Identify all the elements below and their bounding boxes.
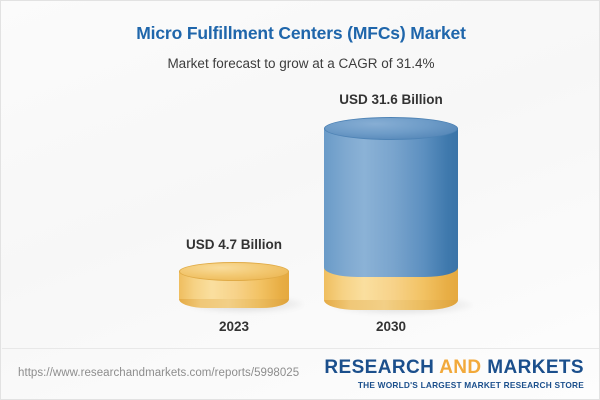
- footer: https://www.researchandmarkets.com/repor…: [1, 349, 600, 399]
- bar-value-label-2023: USD 4.7 Billion: [154, 237, 314, 252]
- bar-value-label-2030: USD 31.6 Billion: [311, 92, 471, 107]
- logo-word-research: RESEARCH: [324, 357, 434, 378]
- logo-word-and: AND: [439, 357, 481, 378]
- bar-group-2030: USD 31.6 Billion 2030: [311, 92, 471, 337]
- bar-cylinder-body-2030: [324, 128, 458, 267]
- bar-cylinder-2023: [179, 262, 289, 310]
- logo-wordmark: RESEARCH AND MARKETS: [324, 357, 584, 379]
- bar-category-label-2030: 2030: [311, 319, 471, 334]
- bar-cylinder-top-2030: [324, 117, 458, 140]
- bar-group-2023: USD 4.7 Billion 2023: [154, 237, 314, 337]
- report-url-link[interactable]: https://www.researchandmarkets.com/repor…: [18, 367, 299, 379]
- research-and-markets-logo[interactable]: RESEARCH AND MARKETS THE WORLD'S LARGEST…: [324, 357, 584, 391]
- infographic-canvas: Micro Fulfillment Centers (MFCs) Market …: [0, 0, 600, 400]
- bar-cylinder-2030: [324, 117, 458, 312]
- logo-word-markets: MARKETS: [487, 357, 584, 378]
- bar-category-label-2023: 2023: [154, 319, 314, 334]
- logo-tagline: THE WORLD'S LARGEST MARKET RESEARCH STOR…: [324, 380, 584, 391]
- bar-cylinder-top-2023: [179, 262, 289, 281]
- chart-plot-area: USD 4.7 Billion 2023 USD 31.6 Billion: [1, 1, 600, 349]
